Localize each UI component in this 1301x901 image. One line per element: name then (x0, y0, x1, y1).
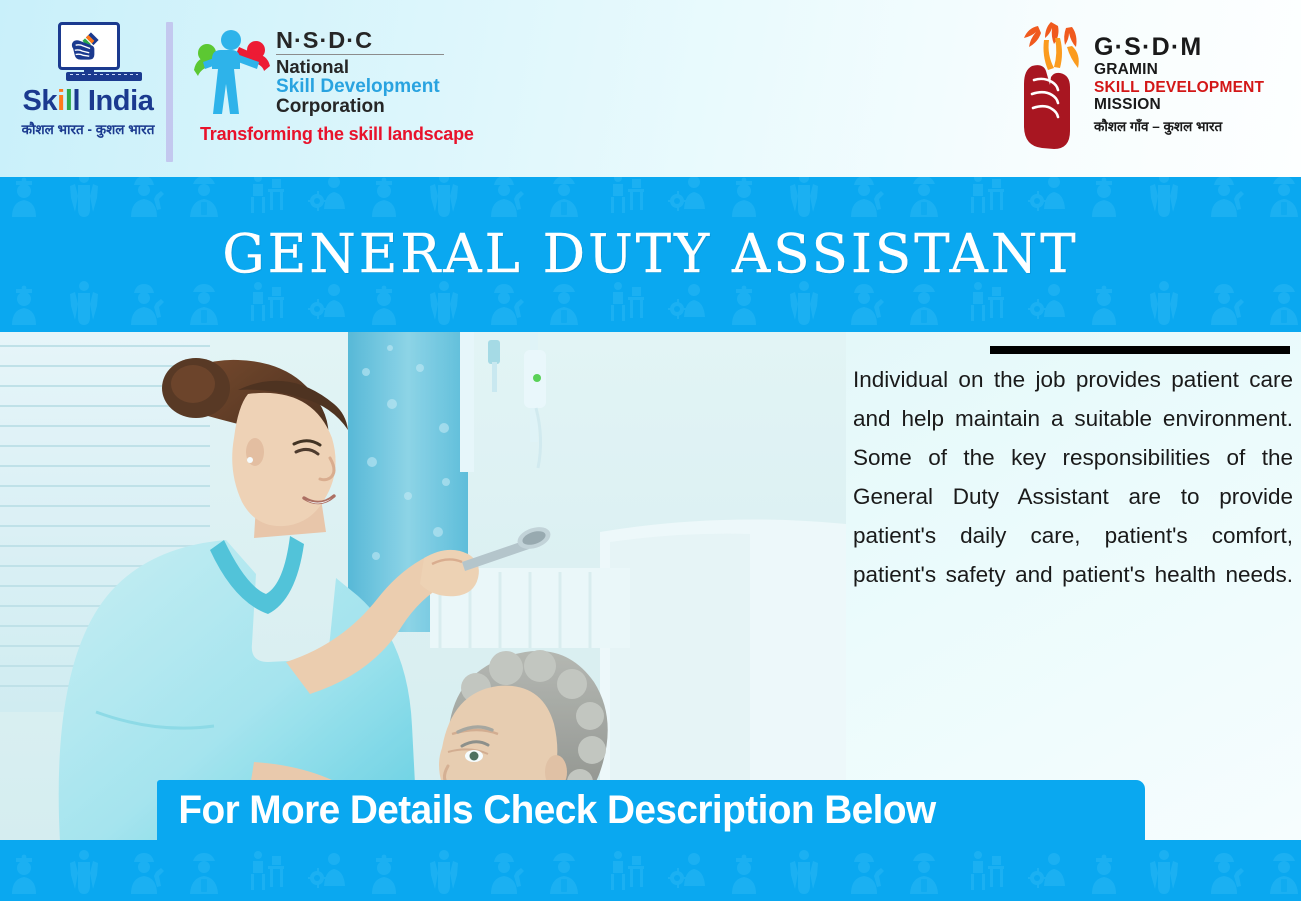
hero-photo (0, 332, 846, 840)
fist-tricolor-icon (68, 29, 102, 63)
skill-india-bar-orange: i (57, 85, 65, 117)
hand-wheat-icon (1008, 18, 1086, 154)
skill-india-wordmark: Skill India (18, 86, 158, 116)
gsdm-line-gramin: GRAMIN (1094, 61, 1284, 79)
skill-india-name-p1: Sk (22, 85, 57, 117)
gsdm-line-mission: MISSION (1094, 96, 1284, 114)
description-panel: Individual on the job provides patient c… (846, 332, 1301, 840)
cta-label: For More Details Check Description Below (157, 788, 936, 833)
nsdc-line-skill-development: Skill Development (276, 77, 444, 97)
nsdc-logo: N·S·D·C National Skill Development Corpo… (192, 26, 440, 151)
gsdm-logo: G·S·D·M GRAMIN SKILL DEVELOPMENT MISSION… (1008, 18, 1280, 158)
page-title: GENERAL DUTY ASSISTANT (0, 177, 1301, 332)
nurse-feeding-elderly-patient-photo (0, 332, 846, 840)
skill-india-bar-green: l (65, 85, 73, 117)
nsdc-abbreviation: N·S·D·C (276, 28, 444, 55)
skill-india-logo: Skill India कौशल भारत - कुशल भारत (18, 22, 158, 158)
nsdc-line-corporation: Corporation (276, 97, 444, 117)
bottom-strip (0, 840, 1301, 901)
header-divider (166, 22, 173, 162)
gsdm-line-skill-development: SKILL DEVELOPMENT (1094, 79, 1284, 97)
skill-india-name-p2: India (80, 85, 153, 117)
header-bar: Skill India कौशल भारत - कुशल भारत N·S·D·… (0, 0, 1301, 177)
worker-silhouettes-pattern-bottom (0, 840, 1301, 901)
nsdc-line-national: National (276, 57, 444, 77)
nsdc-tagline: Transforming the skill landscape (200, 124, 474, 145)
gsdm-hindi-tagline: कौशल गाँव – कुशल भारत (1094, 117, 1284, 135)
skill-india-hindi-tagline: कौशल भारत - कुशल भारत (18, 120, 158, 138)
gsdm-abbreviation: G·S·D·M (1094, 34, 1284, 61)
description-text: Individual on the job provides patient c… (853, 360, 1293, 633)
description-rule (990, 346, 1290, 354)
poster-root: Skill India कौशल भारत - कुशल भारत N·S·D·… (0, 0, 1301, 901)
three-figures-icon (192, 26, 272, 118)
title-banner: GENERAL DUTY ASSISTANT (0, 177, 1301, 332)
monitor-fist-icon (58, 22, 120, 80)
cta-banner[interactable]: For More Details Check Description Below (157, 780, 1145, 840)
